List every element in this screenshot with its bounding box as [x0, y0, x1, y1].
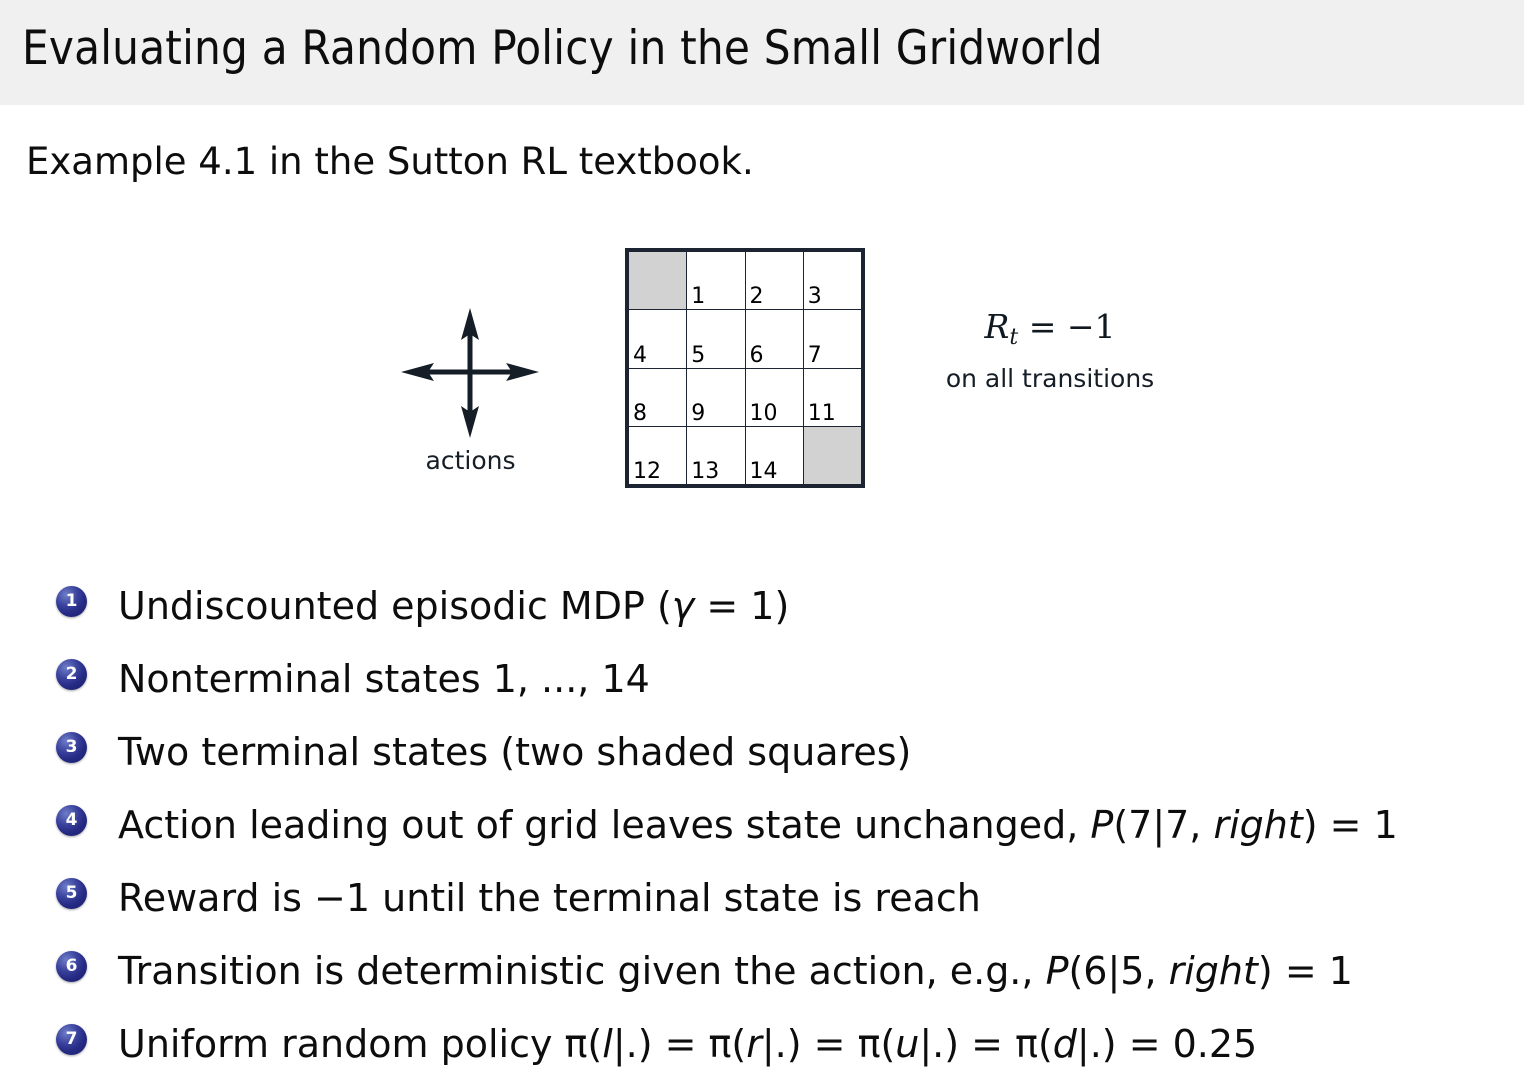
grid-row: 12 13 14 — [629, 426, 862, 484]
enumerated-list: 1 Undiscounted episodic MDP (γ = 1) 2 No… — [0, 570, 1524, 1081]
grid-cell-label: 10 — [750, 402, 778, 426]
text-run: |.) = π( — [762, 1022, 895, 1066]
list-badge: 6 — [56, 951, 87, 982]
text-run: right — [1169, 949, 1258, 993]
grid-cell-label: 13 — [691, 460, 719, 484]
list-item-text: Uniform random policy π(l|.) = π(r|.) = … — [118, 1008, 1257, 1081]
grid-row: 1 2 3 — [629, 252, 862, 310]
grid-cell: 3 — [803, 252, 861, 310]
reward-value: −1 — [1067, 307, 1116, 346]
list-item-text: Transition is deterministic given the ac… — [118, 935, 1353, 1008]
text-run: r — [746, 1022, 762, 1066]
text-run: |.) = π( — [613, 1022, 746, 1066]
grid-cell-label: 7 — [808, 344, 822, 368]
list-badge: 7 — [56, 1024, 87, 1055]
list-badge: 5 — [56, 878, 87, 909]
list-item: 4 Action leading out of grid leaves stat… — [0, 789, 1524, 862]
list-item-text: Action leading out of grid leaves state … — [118, 789, 1398, 862]
four-way-arrow-cross-icon — [398, 300, 543, 445]
text-run: Action leading out of grid leaves state … — [118, 803, 1090, 847]
slide-subtitle: Example 4.1 in the Sutton RL textbook. — [26, 137, 754, 187]
gridworld-grid: 1 2 3 4 5 6 7 8 9 10 11 12 13 14 — [625, 248, 865, 488]
grid-cell-label: 3 — [808, 285, 822, 309]
gridworld-figure: actions 1 2 3 4 5 6 7 8 9 10 11 — [0, 235, 1524, 515]
reward-subscript: t — [1009, 325, 1018, 350]
grid-row: 4 5 6 7 — [629, 310, 862, 368]
list-item: 5 Reward is −1 until the terminal state … — [0, 862, 1524, 935]
text-run: Transition is deterministic given the ac… — [118, 949, 1046, 993]
text-run: |.) = π( — [919, 1022, 1052, 1066]
reward-equals: = — [1029, 307, 1057, 346]
grid-cell: 6 — [745, 310, 803, 368]
reward-caption: on all transitions — [900, 364, 1200, 394]
grid-cell-label: 2 — [750, 285, 764, 309]
grid-cell: 8 — [629, 368, 687, 426]
list-item-text: Nonterminal states 1, ..., 14 — [118, 643, 650, 716]
list-item-text: Two terminal states (two shaded squares) — [118, 716, 911, 789]
grid-cell-label: 6 — [750, 344, 764, 368]
grid-cell: 10 — [745, 368, 803, 426]
grid-cell-label: 4 — [633, 344, 647, 368]
grid-cell: 4 — [629, 310, 687, 368]
text-run: d — [1053, 1022, 1077, 1066]
grid-cell-label: 14 — [750, 460, 778, 484]
list-item: 1 Undiscounted episodic MDP (γ = 1) — [0, 570, 1524, 643]
grid-cell-terminal-end — [803, 426, 861, 484]
grid-cell-label: 12 — [633, 460, 661, 484]
grid-cell: 1 — [687, 252, 745, 310]
grid-cell: 7 — [803, 310, 861, 368]
reward-symbol: R — [984, 307, 1009, 346]
list-badge: 3 — [56, 732, 87, 763]
reward-annotation: Rt = −1 on all transitions — [900, 307, 1200, 394]
list-item-text: Undiscounted episodic MDP (γ = 1) — [118, 570, 789, 643]
text-run: Reward is −1 until the terminal state is… — [118, 876, 981, 920]
text-run: Uniform random policy — [118, 1022, 565, 1066]
text-run: l — [602, 1022, 613, 1066]
page-title: Evaluating a Random Policy in the Small … — [22, 18, 1103, 80]
list-badge: 2 — [56, 659, 87, 690]
text-run: γ — [672, 584, 695, 628]
grid-cell-label: 11 — [808, 402, 836, 426]
text-run: P — [1090, 803, 1113, 847]
list-badge: 4 — [56, 805, 87, 836]
grid-cell: 5 — [687, 310, 745, 368]
text-run: (7|7, — [1113, 803, 1213, 847]
list-badge: 1 — [56, 586, 87, 617]
text-run: ) = 1 — [1303, 803, 1398, 847]
text-run: Undiscounted episodic MDP ( — [118, 584, 672, 628]
grid-cell-terminal-start — [629, 252, 687, 310]
grid-cell: 2 — [745, 252, 803, 310]
grid-cell-label: 5 — [691, 344, 705, 368]
list-item: 7 Uniform random policy π(l|.) = π(r|.) … — [0, 1008, 1524, 1081]
actions-label: actions — [398, 446, 543, 475]
text-run: right — [1213, 803, 1302, 847]
text-run: |.) = 0.25 — [1077, 1022, 1257, 1066]
grid-cell-label: 1 — [691, 285, 705, 309]
text-run: u — [895, 1022, 919, 1066]
grid-cell: 11 — [803, 368, 861, 426]
grid-cell: 9 — [687, 368, 745, 426]
text-run: = 1) — [694, 584, 789, 628]
grid-cell-label: 9 — [691, 402, 705, 426]
list-item: 2 Nonterminal states 1, ..., 14 — [0, 643, 1524, 716]
list-item: 6 Transition is deterministic given the … — [0, 935, 1524, 1008]
grid-cell: 12 — [629, 426, 687, 484]
grid-cell-label: 8 — [633, 402, 647, 426]
list-item-text: Reward is −1 until the terminal state is… — [118, 862, 981, 935]
grid-cell: 14 — [745, 426, 803, 484]
grid-cell: 13 — [687, 426, 745, 484]
list-item: 3 Two terminal states (two shaded square… — [0, 716, 1524, 789]
text-run: (6|5, — [1068, 949, 1168, 993]
text-run: Nonterminal states 1, ..., 14 — [118, 657, 650, 701]
text-run: P — [1046, 949, 1069, 993]
text-run: Two terminal states (two shaded squares) — [118, 730, 911, 774]
actions-diagram: actions — [398, 300, 543, 485]
reward-formula: Rt = −1 — [900, 307, 1200, 358]
grid-row: 8 9 10 11 — [629, 368, 862, 426]
text-run: ) = 1 — [1258, 949, 1353, 993]
text-run: π( — [565, 1022, 603, 1066]
